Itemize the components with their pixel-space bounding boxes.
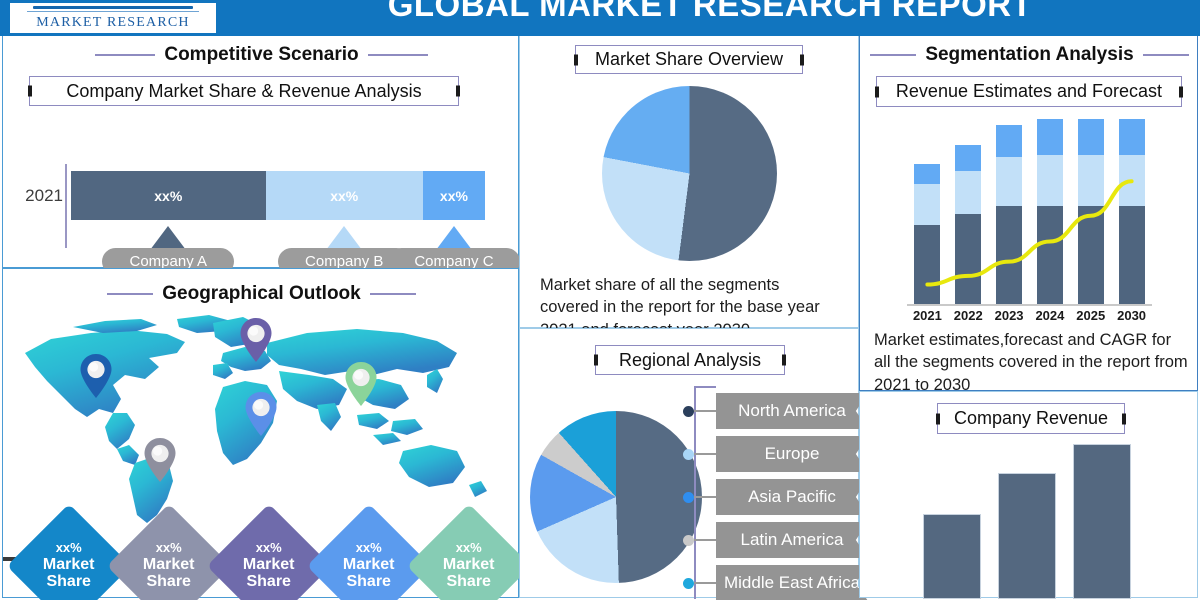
diamond-percent: xx% [443, 541, 495, 556]
regional-analysis-pie-chart [530, 411, 702, 583]
diamond-content: xx%MarketShare [343, 541, 395, 591]
company-revenue-panel: Company Revenue [859, 391, 1198, 598]
competitive-axis [65, 164, 67, 248]
diamond-percent: xx% [143, 541, 195, 556]
segmentation-subtitle-box: Revenue Estimates and Forecast [876, 76, 1182, 107]
regional-legend-item[interactable]: North America [688, 393, 868, 429]
segmentation-subtitle: Revenue Estimates and Forecast [896, 81, 1162, 102]
diamond-percent: xx% [343, 541, 395, 556]
segmentation-analysis-heading: Segmentation Analysis [860, 44, 1199, 66]
segmentation-bar-2021 [914, 164, 940, 304]
competitive-subtitle: Company Market Share & Revenue Analysis [66, 81, 421, 102]
diamond-label-line1: Market [443, 555, 495, 573]
segmentation-tick-2022: 2022 [948, 308, 988, 323]
market-share-subtitle: Market Share Overview [595, 49, 783, 70]
south-america-pin[interactable] [143, 437, 177, 483]
diamond-label-line2: Share [343, 573, 395, 591]
legend-dot-icon [683, 492, 694, 503]
company-revenue-bar-chart [915, 444, 1145, 599]
company-pointer-icon [150, 226, 186, 250]
diamond-label-line1: Market [43, 555, 95, 573]
regional-legend-item[interactable]: Europe [688, 436, 868, 472]
diamond-label-line1: Market [343, 555, 395, 573]
report-infographic: GLOBAL MARKET RESEARCH REPORT MARKET RES… [0, 0, 1200, 600]
legend-connector-icon [694, 496, 716, 498]
logo-rule-thin-icon [27, 11, 199, 12]
rule-left-icon [95, 54, 155, 56]
segmentation-tick-2021: 2021 [907, 308, 947, 323]
segmentation-segment-segment-2 [1037, 155, 1063, 206]
regional-label: Middle East Africa [716, 565, 868, 600]
rule-right-icon [370, 293, 416, 295]
legend-connector-icon [694, 453, 716, 455]
competitive-scenario-panel: Competitive Scenario Company Market Shar… [2, 36, 519, 268]
segmentation-segment-segment-2 [955, 171, 981, 214]
segmentation-segment-segment-3 [1078, 119, 1104, 155]
company-revenue-bar-3 [1073, 444, 1131, 599]
legend-connector-icon [694, 539, 716, 541]
logo: MARKET RESEARCH [8, 1, 218, 35]
diamond-content: xx%MarketShare [143, 541, 195, 591]
diamond-content: xx%MarketShare [43, 541, 95, 591]
market-share-pie-chart [602, 86, 777, 261]
segmentation-segment-segment-2 [1078, 155, 1104, 206]
diamond-label-line1: Market [243, 555, 295, 573]
segmentation-bar-2025 [1078, 119, 1104, 304]
segmentation-bar-chart [907, 119, 1152, 304]
competitive-segment-c: xx% [423, 171, 485, 220]
segmentation-segment-segment-1 [1037, 206, 1063, 304]
page-title: GLOBAL MARKET RESEARCH REPORT [220, 0, 1200, 24]
segmentation-baseline [907, 304, 1152, 306]
company-pointer-icon [436, 226, 472, 250]
regional-label: Latin America [716, 522, 868, 558]
africa-middle-east-pin[interactable] [244, 391, 278, 437]
company-pointer-icon [326, 226, 362, 250]
company-revenue-bar-2 [998, 473, 1056, 599]
regional-label: Asia Pacific [716, 479, 868, 515]
segmentation-tick-2030: 2030 [1112, 308, 1152, 323]
world-map [17, 309, 507, 524]
diamond-label-line2: Share [443, 573, 495, 591]
market-share-overview-panel: Market Share Overview Market share of al… [519, 36, 859, 328]
segmentation-segment-segment-3 [996, 125, 1022, 157]
segmentation-bar-2024 [1037, 119, 1063, 304]
competitive-scenario-heading: Competitive Scenario [3, 44, 520, 66]
market-share-subtitle-box: Market Share Overview [575, 45, 803, 74]
segmentation-x-axis-labels: 202120222023202420252030 [902, 308, 1157, 326]
competitive-year-label: 2021 [11, 186, 63, 206]
company-revenue-subtitle-box: Company Revenue [937, 403, 1125, 434]
diamond-label-line2: Share [143, 573, 195, 591]
legend-dot-icon [683, 449, 694, 460]
diamond-label-line2: Share [43, 573, 95, 591]
regional-analysis-panel: Regional Analysis North AmericaEuropeAsi… [519, 328, 859, 598]
segmentation-segment-segment-3 [1037, 119, 1063, 155]
segmentation-bar-2030 [1119, 119, 1145, 304]
north-america-pin[interactable] [79, 353, 113, 399]
legend-connector-icon [694, 410, 716, 412]
regional-analysis-subtitle: Regional Analysis [619, 350, 761, 371]
segmentation-segment-segment-1 [1119, 206, 1145, 304]
rule-right-icon [1143, 54, 1189, 56]
competitive-stacked-bar: xx%xx%xx% [71, 171, 485, 220]
east-asia-pin[interactable] [344, 361, 378, 407]
diamond-label-line1: Market [143, 555, 195, 573]
regional-label: Europe [716, 436, 868, 472]
legend-dot-icon [683, 535, 694, 546]
northern-europe-pin[interactable] [239, 317, 273, 363]
company-revenue-bar-1 [923, 514, 981, 599]
logo-rule-icon [33, 6, 193, 9]
regional-legend-item[interactable]: Asia Pacific [688, 479, 868, 515]
segmentation-segment-segment-3 [955, 145, 981, 171]
company-revenue-subtitle: Company Revenue [954, 408, 1108, 429]
diamond-content: xx%MarketShare [443, 541, 495, 591]
legend-dot-icon [683, 406, 694, 417]
segmentation-bar-2023 [996, 125, 1022, 304]
segmentation-segment-segment-1 [1078, 206, 1104, 304]
regional-spine-cap [694, 386, 716, 388]
legend-connector-icon [694, 582, 716, 584]
segmentation-bar-2022 [955, 145, 981, 304]
segmentation-analysis-panel: Segmentation Analysis Revenue Estimates … [859, 36, 1198, 391]
competitive-scenario-title: Competitive Scenario [164, 44, 358, 66]
regional-analysis-subtitle-box: Regional Analysis [595, 345, 785, 375]
segmentation-tick-2023: 2023 [989, 308, 1029, 323]
geographical-outlook-panel: Geographical Outlook [2, 268, 519, 598]
segmentation-segment-segment-3 [914, 164, 940, 184]
segmentation-segment-segment-3 [1119, 119, 1145, 155]
segmentation-segment-segment-2 [996, 157, 1022, 206]
diamond-percent: xx% [43, 541, 95, 556]
legend-dot-icon [683, 578, 694, 589]
diamond-content: xx%MarketShare [243, 541, 295, 591]
segmentation-analysis-title: Segmentation Analysis [925, 44, 1133, 66]
segmentation-segment-segment-2 [1119, 155, 1145, 206]
diamond-percent: xx% [243, 541, 295, 556]
competitive-segment-b: xx% [266, 171, 423, 220]
rule-left-icon [107, 293, 153, 295]
segmentation-segment-segment-1 [955, 214, 981, 304]
segmentation-segment-segment-1 [996, 206, 1022, 304]
rule-right-icon [368, 54, 428, 56]
geographical-outlook-heading: Geographical Outlook [3, 283, 520, 305]
segmentation-segment-segment-1 [914, 225, 940, 304]
segmentation-tick-2025: 2025 [1071, 308, 1111, 323]
regional-label: North America [716, 393, 868, 429]
segmentation-tick-2024: 2024 [1030, 308, 1070, 323]
regional-legend-item[interactable]: Middle East Africa [688, 565, 868, 600]
segmentation-description: Market estimates,forecast and CAGR for a… [874, 329, 1189, 396]
geographical-outlook-title: Geographical Outlook [162, 283, 360, 305]
diamond-label-line2: Share [243, 573, 295, 591]
rule-left-icon [870, 54, 916, 56]
logo-text: MARKET RESEARCH [36, 15, 189, 31]
segmentation-segment-segment-2 [914, 184, 940, 224]
competitive-subtitle-box: Company Market Share & Revenue Analysis [29, 76, 459, 106]
competitive-segment-a: xx% [71, 171, 266, 220]
regional-legend-item[interactable]: Latin America [688, 522, 868, 558]
